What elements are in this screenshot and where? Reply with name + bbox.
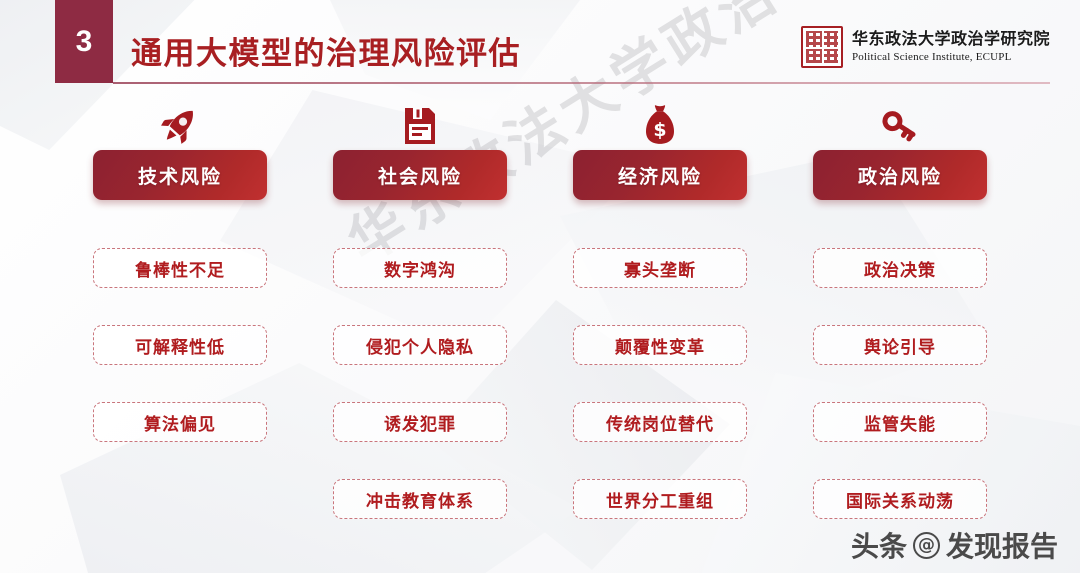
risk-item[interactable]: 国际关系动荡	[813, 479, 987, 519]
floppy-disk-icon	[402, 100, 438, 146]
risk-item-list: 寡头垄断 颠覆性变革 传统岗位替代 世界分工重组	[540, 248, 780, 519]
risk-item[interactable]: 算法偏见	[93, 402, 267, 442]
risk-item[interactable]: 传统岗位替代	[573, 402, 747, 442]
key-icon	[879, 100, 921, 146]
risk-column-economic: $ 经济风险 寡头垄断 颠覆性变革 传统岗位替代 世界分工重组	[540, 100, 780, 573]
risk-item[interactable]: 世界分工重组	[573, 479, 747, 519]
risk-item[interactable]: 舆论引导	[813, 325, 987, 365]
risk-item-list: 政治决策 舆论引导 监管失能 国际关系动荡	[780, 248, 1020, 519]
risk-item[interactable]: 鲁棒性不足	[93, 248, 267, 288]
risk-item[interactable]: 监管失能	[813, 402, 987, 442]
risk-column-political: 政治风险 政治决策 舆论引导 监管失能 国际关系动荡	[780, 100, 1020, 573]
money-bag-icon: $	[640, 100, 680, 146]
risk-item-list: 鲁棒性不足 可解释性低 算法偏见	[60, 248, 300, 442]
risk-item[interactable]: 冲击教育体系	[333, 479, 507, 519]
risk-item[interactable]: 诱发犯罪	[333, 402, 507, 442]
brand-logo: 华东政法大学政治学研究院 Political Science Institute…	[801, 26, 1050, 68]
risk-item[interactable]: 可解释性低	[93, 325, 267, 365]
category-header-economic[interactable]: 经济风险	[573, 150, 747, 200]
risk-item[interactable]: 政治决策	[813, 248, 987, 288]
svg-text:$: $	[653, 119, 666, 141]
brand-name-cn: 华东政法大学政治学研究院	[852, 30, 1050, 48]
title-divider	[113, 82, 1050, 84]
rocket-icon	[160, 100, 200, 146]
brand-text: 华东政法大学政治学研究院 Political Science Institute…	[852, 30, 1050, 63]
risk-column-technical: 技术风险 鲁棒性不足 可解释性低 算法偏见	[60, 100, 300, 573]
risk-columns: 技术风险 鲁棒性不足 可解释性低 算法偏见 社会风险	[0, 100, 1080, 573]
brand-name-en: Political Science Institute, ECUPL	[852, 51, 1050, 64]
risk-item[interactable]: 侵犯个人隐私	[333, 325, 507, 365]
page-title: 通用大模型的治理风险评估	[131, 28, 521, 73]
risk-item-list: 数字鸿沟 侵犯个人隐私 诱发犯罪 冲击教育体系	[300, 248, 540, 519]
category-header-technical[interactable]: 技术风险	[93, 150, 267, 200]
risk-item[interactable]: 寡头垄断	[573, 248, 747, 288]
section-number-badge: 3	[55, 0, 113, 83]
institutional-seal-icon	[801, 26, 843, 68]
risk-item[interactable]: 颠覆性变革	[573, 325, 747, 365]
risk-item[interactable]: 数字鸿沟	[333, 248, 507, 288]
slide-canvas: 华东政法大学政治学研究院 3 通用大模型的治理风险评估 华东政法大学政治学研究院…	[0, 0, 1080, 573]
slide-header: 3 通用大模型的治理风险评估 华东政法大学政治学研究院 Political Sc…	[0, 0, 1080, 95]
category-header-social[interactable]: 社会风险	[333, 150, 507, 200]
category-header-political[interactable]: 政治风险	[813, 150, 987, 200]
risk-column-social: 社会风险 数字鸿沟 侵犯个人隐私 诱发犯罪 冲击教育体系	[300, 100, 540, 573]
section-number: 3	[76, 27, 93, 57]
